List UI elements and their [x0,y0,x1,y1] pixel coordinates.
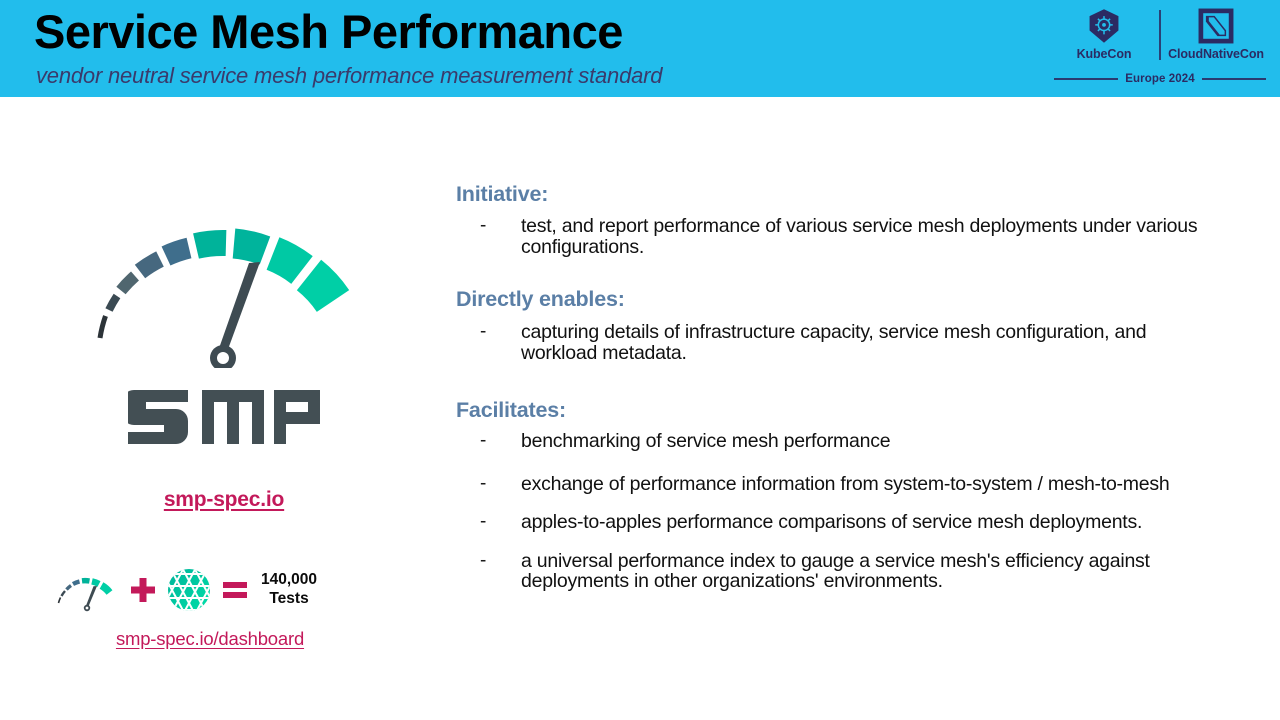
tests-count-value: 140,000 [261,571,317,590]
page-subtitle: vendor neutral service mesh performance … [36,63,662,89]
kubecon-label: KubeCon [1077,47,1132,61]
conference-logo: KubeCon CloudNativeCon [1054,6,1266,92]
bullet-text: test, and report performance of various … [521,216,1211,257]
conference-logo-row: KubeCon CloudNativeCon [1054,6,1266,68]
bullet-text: exchange of performance information from… [521,474,1211,495]
conference-edition: Europe 2024 [1125,73,1195,85]
section-heading-facilitates: Facilitates: [456,398,566,423]
bullet-spacer [456,494,1211,512]
equals-icon [221,573,249,607]
bullet-text: capturing details of infrastructure capa… [521,322,1211,363]
bullet-list-initiative: - test, and report performance of variou… [456,216,1211,257]
tests-equation: 140,000 Tests [55,560,365,620]
list-item: - benchmarking of service mesh performan… [456,431,1211,452]
bullet-text: a universal performance index to gauge a… [521,551,1211,592]
bullet-spacer [456,533,1211,551]
bullet-text: benchmarking of service mesh performance [521,431,1211,452]
left-column: smp-spec.io [0,120,448,680]
bullet-marker: - [480,216,486,236]
kubernetes-helm-icon [1085,6,1123,46]
page-title: Service Mesh Performance [34,6,623,59]
list-item: - apples-to-apples performance compariso… [456,512,1211,533]
bullet-spacer [456,452,1211,474]
bullet-list-facilitates: - benchmarking of service mesh performan… [456,431,1211,592]
conference-edition-row: Europe 2024 [1054,70,1266,88]
tests-count-block: 140,000 Tests [261,571,317,609]
smp-spec-link[interactable]: smp-spec.io [0,488,448,512]
bullet-marker: - [480,551,486,571]
bullet-text: apples-to-apples performance comparisons… [521,512,1211,533]
section-heading-initiative: Initiative: [456,182,548,207]
bullet-marker: - [480,512,486,532]
cncf-square-icon [1198,6,1234,46]
smp-dashboard-link[interactable]: smp-spec.io/dashboard [0,628,420,650]
bullet-marker: - [480,474,486,494]
list-item: - capturing details of infrastructure ca… [456,322,1211,363]
list-item: - a universal performance index to gauge… [456,551,1211,592]
slide-header: Service Mesh Performance vendor neutral … [0,0,1280,97]
list-item: - test, and report performance of variou… [456,216,1211,257]
performance-gauge-icon [78,208,368,368]
slide-root: Service Mesh Performance vendor neutral … [0,0,1280,720]
conference-rule-right [1202,78,1266,80]
bullet-marker: - [480,322,486,342]
plus-icon [129,573,157,607]
tests-count-unit: Tests [261,590,317,609]
cloudnativecon-label: CloudNativeCon [1168,47,1264,61]
kubecon-lockup: KubeCon [1054,6,1154,68]
smp-logo-wordmark [0,382,448,449]
bullet-list-directly-enables: - capturing details of infrastructure ca… [456,322,1211,363]
performance-gauge-icon-small [55,568,119,612]
section-heading-directly-enables: Directly enables: [456,287,625,312]
conference-rule-left [1054,78,1118,80]
bullet-marker: - [480,431,486,451]
list-item: - exchange of performance information fr… [456,474,1211,495]
cloudnativecon-lockup: CloudNativeCon [1166,6,1266,68]
conference-logo-divider [1159,10,1161,60]
meshery-mesh-icon [167,568,211,612]
